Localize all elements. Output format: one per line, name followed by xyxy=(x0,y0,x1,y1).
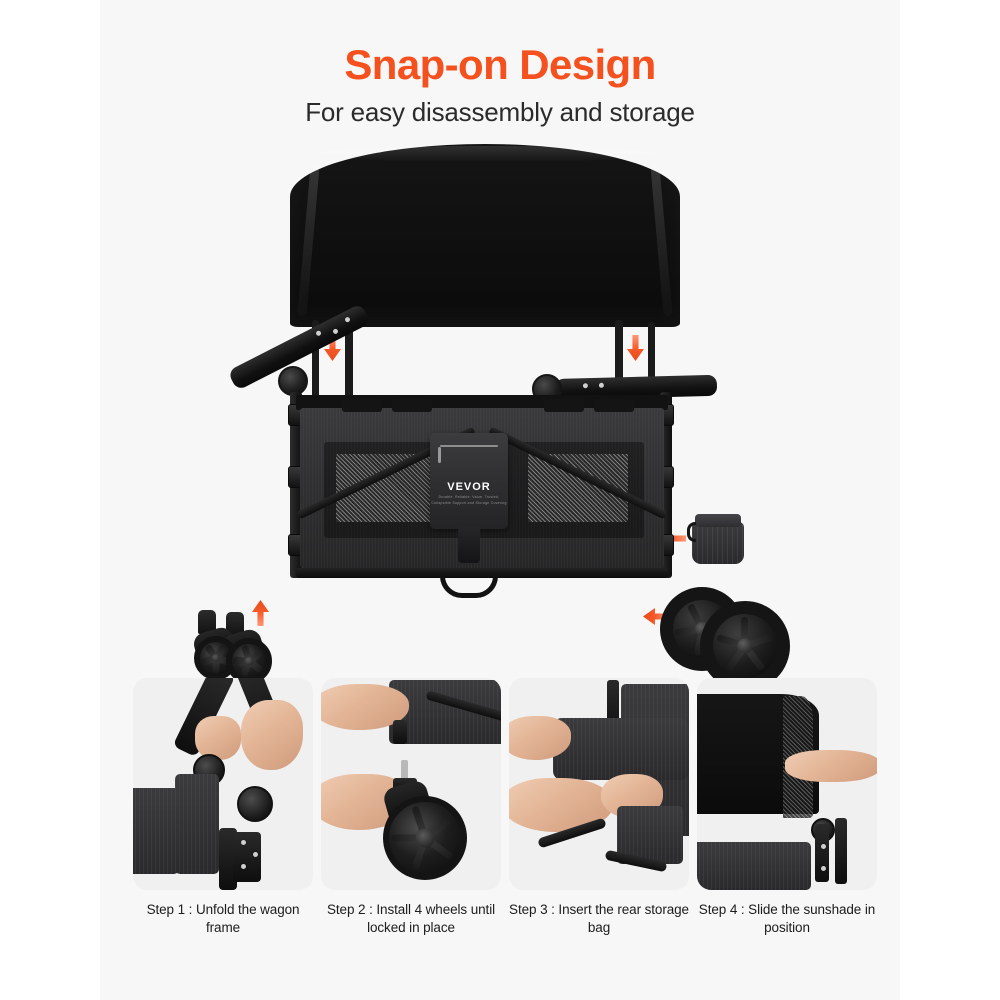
front-wheels-part xyxy=(192,610,304,680)
cup-holder-body xyxy=(692,522,744,564)
cup-holder-clip xyxy=(687,522,696,542)
vevor-logo: VEVOR xyxy=(430,481,508,493)
step-1-caption: Step 1 : Unfold the wagon frame xyxy=(133,901,313,937)
hero-product-illustration: VEVOR Durable. Reliable. Value. Trusted.… xyxy=(100,130,900,675)
bag-zipper-pull xyxy=(438,447,441,463)
infographic-page: Snap-on Design For easy disassembly and … xyxy=(0,0,1000,1000)
step-2-caption: Step 2 : Install 4 wheels until locked i… xyxy=(321,901,501,937)
header: Snap-on Design For easy disassembly and … xyxy=(0,42,1000,128)
step-card-4[interactable]: Step 4 : Slide the sunshade in position xyxy=(697,678,877,948)
cup-holder-lid xyxy=(695,514,741,527)
step-4-thumbnail xyxy=(697,678,877,890)
canopy-part xyxy=(290,144,680,327)
step-3-thumbnail xyxy=(509,678,689,890)
canopy-shell xyxy=(290,144,680,327)
step-card-2[interactable]: Step 2 : Install 4 wheels until locked i… xyxy=(321,678,501,948)
steps-strip: Step 1 : Unfold the wagon frame xyxy=(133,678,867,948)
step-1-thumbnail xyxy=(133,678,313,890)
center-bag-tab xyxy=(458,527,480,563)
step-4-caption: Step 4 : Slide the sunshade in position xyxy=(697,901,877,937)
step-3-caption: Step 3 : Insert the rear storage bag xyxy=(509,901,689,937)
canopy-highlight xyxy=(313,146,656,162)
vevor-tagline-1: Durable. Reliable. Value. Trusted. xyxy=(430,495,508,499)
page-subtitle: For easy disassembly and storage xyxy=(0,97,1000,128)
step-2-thumbnail xyxy=(321,678,501,890)
bag-zipper xyxy=(440,445,498,447)
step-card-1[interactable]: Step 1 : Unfold the wagon frame xyxy=(133,678,313,948)
wagon-strap xyxy=(392,399,432,412)
wagon-strap xyxy=(342,399,382,412)
canopy-right-arrow-icon xyxy=(627,335,644,361)
step-card-3[interactable]: Step 3 : Insert the rear storage bag xyxy=(509,678,689,948)
cup-holder-part xyxy=(692,508,744,564)
frame-hook xyxy=(440,576,498,598)
center-storage-bag: VEVOR Durable. Reliable. Value. Trusted.… xyxy=(430,433,508,529)
wagon-strap xyxy=(594,399,634,412)
wagon-strap xyxy=(544,399,584,412)
page-title: Snap-on Design xyxy=(0,42,1000,87)
vevor-tagline-2: Collapsible Support and Storage Covering xyxy=(430,501,508,505)
